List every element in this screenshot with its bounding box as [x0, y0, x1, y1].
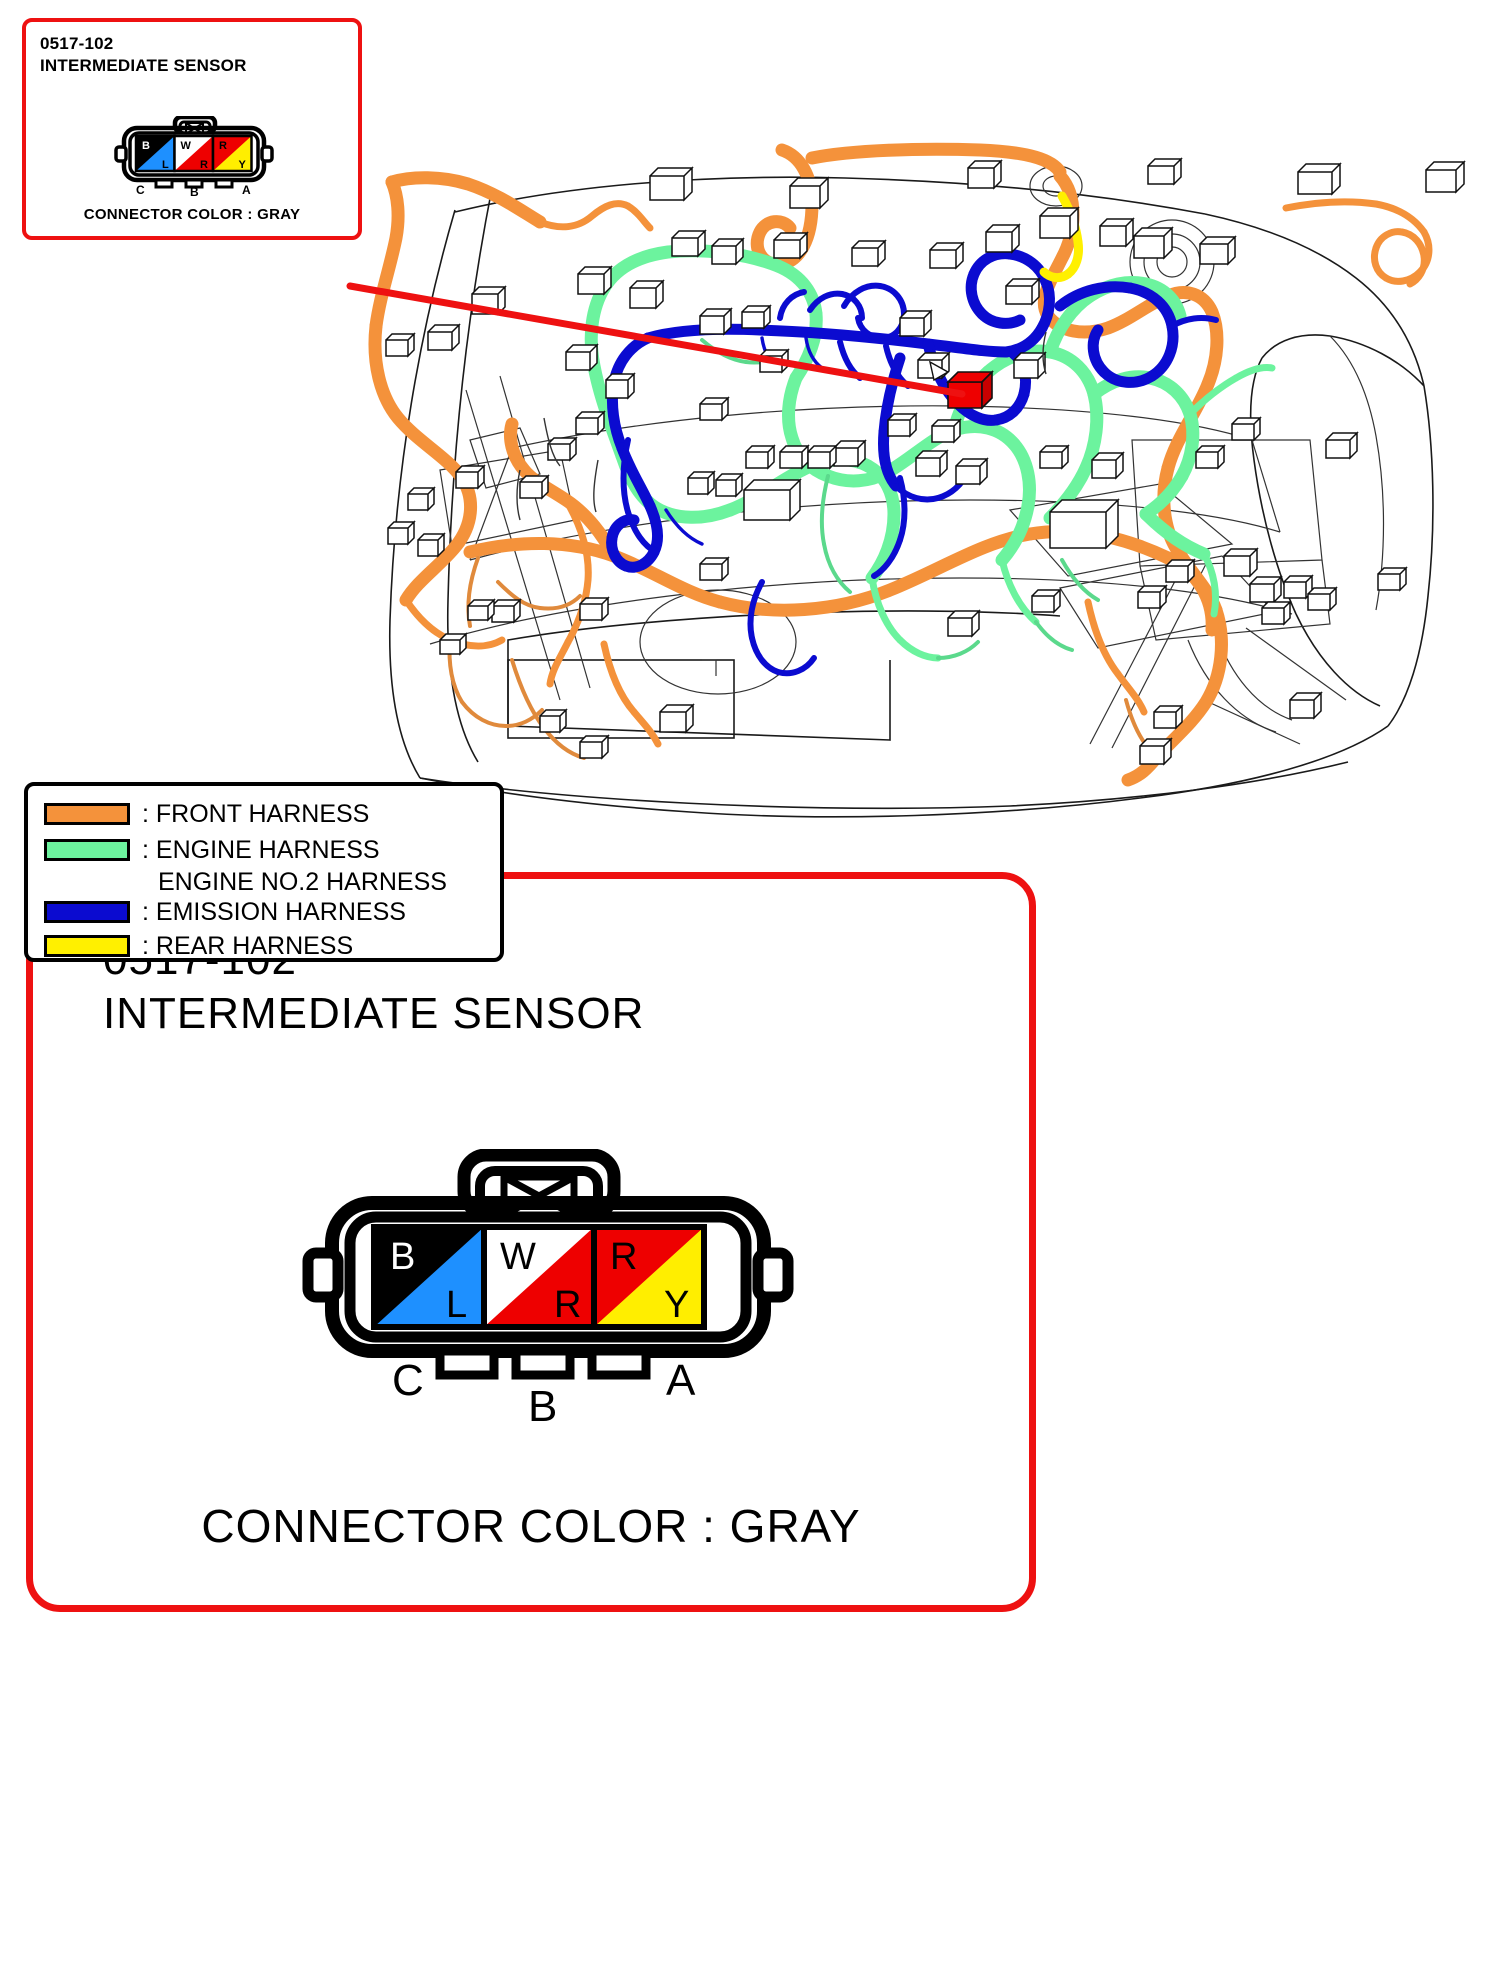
detail-cavity-B: W R [484, 1227, 594, 1327]
detail-part-name: INTERMEDIATE SENSOR [103, 989, 644, 1039]
detail-connector-color-text: CONNECTOR COLOR : GRAY [33, 1499, 1029, 1553]
inset-part-name: INTERMEDIATE SENSOR [40, 56, 247, 76]
connector-detail-panel: 0517-102 INTERMEDIATE SENSOR [26, 872, 1036, 1612]
svg-text:B: B [390, 1236, 415, 1278]
detail-cavity-A: R Y [594, 1227, 704, 1327]
inset-cavity-A: R Y [213, 136, 252, 171]
inset-connector-color-text: CONNECTOR COLOR : GRAY [26, 206, 358, 223]
svg-text:Y: Y [239, 159, 247, 171]
legend-label-rear: : REAR HARNESS [142, 934, 353, 959]
legend-label-engine: : ENGINE HARNESS [142, 838, 380, 863]
svg-text:R: R [610, 1236, 637, 1278]
legend-item-rear: : REAR HARNESS [44, 932, 353, 960]
svg-text:Y: Y [664, 1284, 689, 1326]
detail-cavity-C: B L [374, 1227, 484, 1327]
cavity-label-A: A [666, 1356, 696, 1405]
legend-label-front: : FRONT HARNESS [142, 802, 369, 827]
svg-text:R: R [219, 140, 227, 152]
inset-connector-drawing: B L W R R Y C B A [104, 116, 284, 196]
connector-blocks [386, 159, 1464, 764]
svg-text:W: W [181, 140, 192, 152]
legend-swatch-rear [44, 935, 130, 957]
cavity-label-C: C [392, 1356, 424, 1405]
inset-part-id: 0517-102 [40, 34, 113, 54]
svg-text:L: L [162, 159, 169, 171]
legend-label-emission: : EMISSION HARNESS [142, 900, 406, 925]
diagram-page: 0517-102 INTERMEDIATE SENSOR [0, 0, 1485, 1969]
harness-legend: : FRONT HARNESS : ENGINE HARNESS ENGINE … [24, 782, 504, 962]
legend-swatch-emission [44, 901, 130, 923]
cavity-label-B: B [528, 1382, 557, 1431]
legend-swatch-engine [44, 839, 130, 861]
legend-swatch-front [44, 803, 130, 825]
inset-cavity-C: B L [136, 136, 175, 171]
svg-text:A: A [242, 183, 251, 196]
svg-text:B: B [190, 185, 199, 196]
svg-text:R: R [554, 1284, 581, 1326]
svg-text:W: W [500, 1236, 536, 1278]
legend-item-front: : FRONT HARNESS [44, 800, 369, 828]
inset-callout-box: 0517-102 INTERMEDIATE SENSOR [22, 18, 362, 240]
inset-cavity-B: W R [175, 136, 214, 171]
detail-connector-drawing: B L W R R Y C [288, 1149, 808, 1439]
svg-text:R: R [200, 159, 208, 171]
svg-text:B: B [142, 140, 150, 152]
svg-text:L: L [446, 1284, 467, 1326]
legend-item-engine: : ENGINE HARNESS [44, 836, 380, 864]
legend-item-emission: : EMISSION HARNESS [44, 898, 406, 926]
legend-label-engine-no2: ENGINE NO.2 HARNESS [158, 870, 447, 895]
svg-text:C: C [136, 183, 145, 196]
